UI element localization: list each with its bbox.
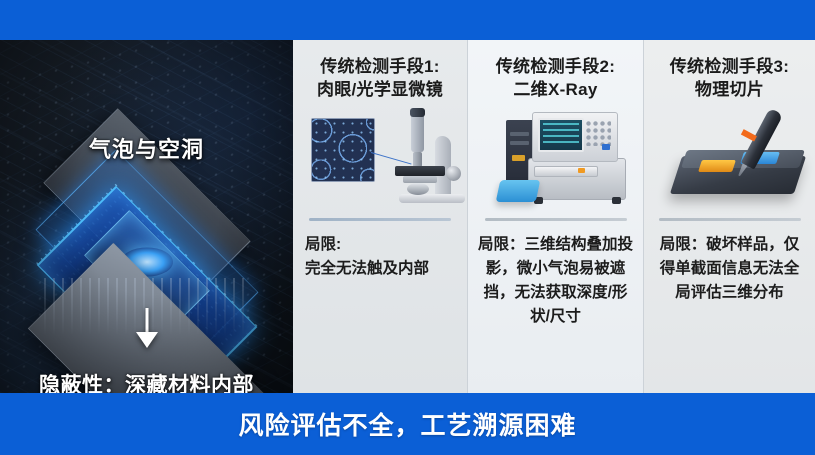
column-1-limitation: 局限: 完全无法触及内部 [305, 233, 455, 281]
xray-foot-right [612, 197, 621, 204]
column-3-divider [659, 218, 801, 221]
column-1-title-line1: 传统检测手段1: [317, 56, 443, 79]
left-caption-top: 气泡与空洞 [0, 132, 293, 164]
cross-section-scribe-icon [654, 108, 805, 210]
microscope-base [399, 194, 465, 203]
column-3-title-line2: 物理切片 [670, 79, 790, 102]
column-2-limitation: 局限：三维结构叠加投影，微小气泡易被遮挡，无法获取深度/形状/尺寸 [478, 233, 633, 329]
bottom-banner: 风险评估不全，工艺溯源困难 [0, 393, 815, 455]
xray-status-led [578, 168, 585, 173]
column-3-limitation: 局限：破坏样品，仅得单截面信息无法全局评估三维分布 [654, 233, 805, 305]
sample-chip-orange [698, 160, 736, 172]
column-2-title: 传统检测手段2: 二维X-Ray [496, 56, 616, 102]
xray-machine-icon [478, 108, 633, 210]
top-blue-band [0, 0, 815, 40]
column-1-divider [309, 218, 451, 221]
left-caption-bottom: 隐蔽性：深藏材料内部 [0, 369, 293, 393]
column-1-limitation-line1: 局限: [305, 233, 455, 257]
column-3-title-line1: 传统检测手段3: [670, 56, 790, 79]
xray-tower-badge [512, 155, 525, 161]
xray-blue-key [602, 144, 610, 150]
left-photo-panel: 气泡与空洞 隐蔽性：深藏材料内部 [0, 40, 293, 393]
microscope-stage-lower [403, 176, 437, 183]
bottom-banner-text: 风险评估不全，工艺溯源困难 [238, 406, 576, 442]
column-2-title-line1: 传统检测手段2: [496, 56, 616, 79]
xray-lower-body [528, 158, 626, 200]
methods-columns: 传统检测手段1: 肉眼/光学显微镜 局限: 完全无法触及内部 [293, 40, 815, 393]
xray-keypad [585, 120, 611, 146]
column-traditional-method-3: 传统检测手段3: 物理切片 局限：破坏样品，仅得单截面信息无法全局评估三维分布 [643, 40, 815, 393]
micrograph-inset-icon [311, 118, 375, 182]
xray-screen [538, 118, 584, 152]
microscope-mirror [407, 183, 429, 195]
xray-sample-drawer [534, 166, 598, 177]
column-traditional-method-2: 传统检测手段2: 二维X-Ray 局限：三维结构叠加投影，微小气 [467, 40, 643, 393]
down-arrow-icon [136, 332, 158, 348]
microscope-icon [303, 108, 457, 210]
xray-tower-slot-2 [510, 141, 529, 145]
microscope-stage [395, 166, 445, 176]
microscope-objective [413, 152, 422, 167]
column-traditional-method-1: 传统检测手段1: 肉眼/光学显微镜 局限: 完全无法触及内部 [293, 40, 467, 393]
scribe-pen-band [741, 129, 757, 141]
column-1-title: 传统检测手段1: 肉眼/光学显微镜 [317, 56, 443, 102]
microscope-eyepiece [410, 108, 425, 117]
micrograph-pointer-line [371, 152, 412, 165]
down-arrow-stem [145, 308, 148, 334]
slide-root: 气泡与空洞 隐蔽性：深藏材料内部 传统检测手段1: 肉眼/光学显微镜 [0, 0, 815, 455]
xray-sample-block [496, 180, 541, 202]
column-3-title: 传统检测手段3: 物理切片 [670, 56, 790, 102]
microscope-focus-knob [446, 166, 461, 181]
column-1-limitation-line2: 完全无法触及内部 [305, 257, 455, 281]
microscope-tube [411, 114, 424, 152]
xray-tower-slot-1 [510, 132, 529, 136]
column-1-title-line2: 肉眼/光学显微镜 [317, 79, 443, 102]
column-2-title-line2: 二维X-Ray [496, 79, 616, 102]
column-2-divider [485, 218, 627, 221]
